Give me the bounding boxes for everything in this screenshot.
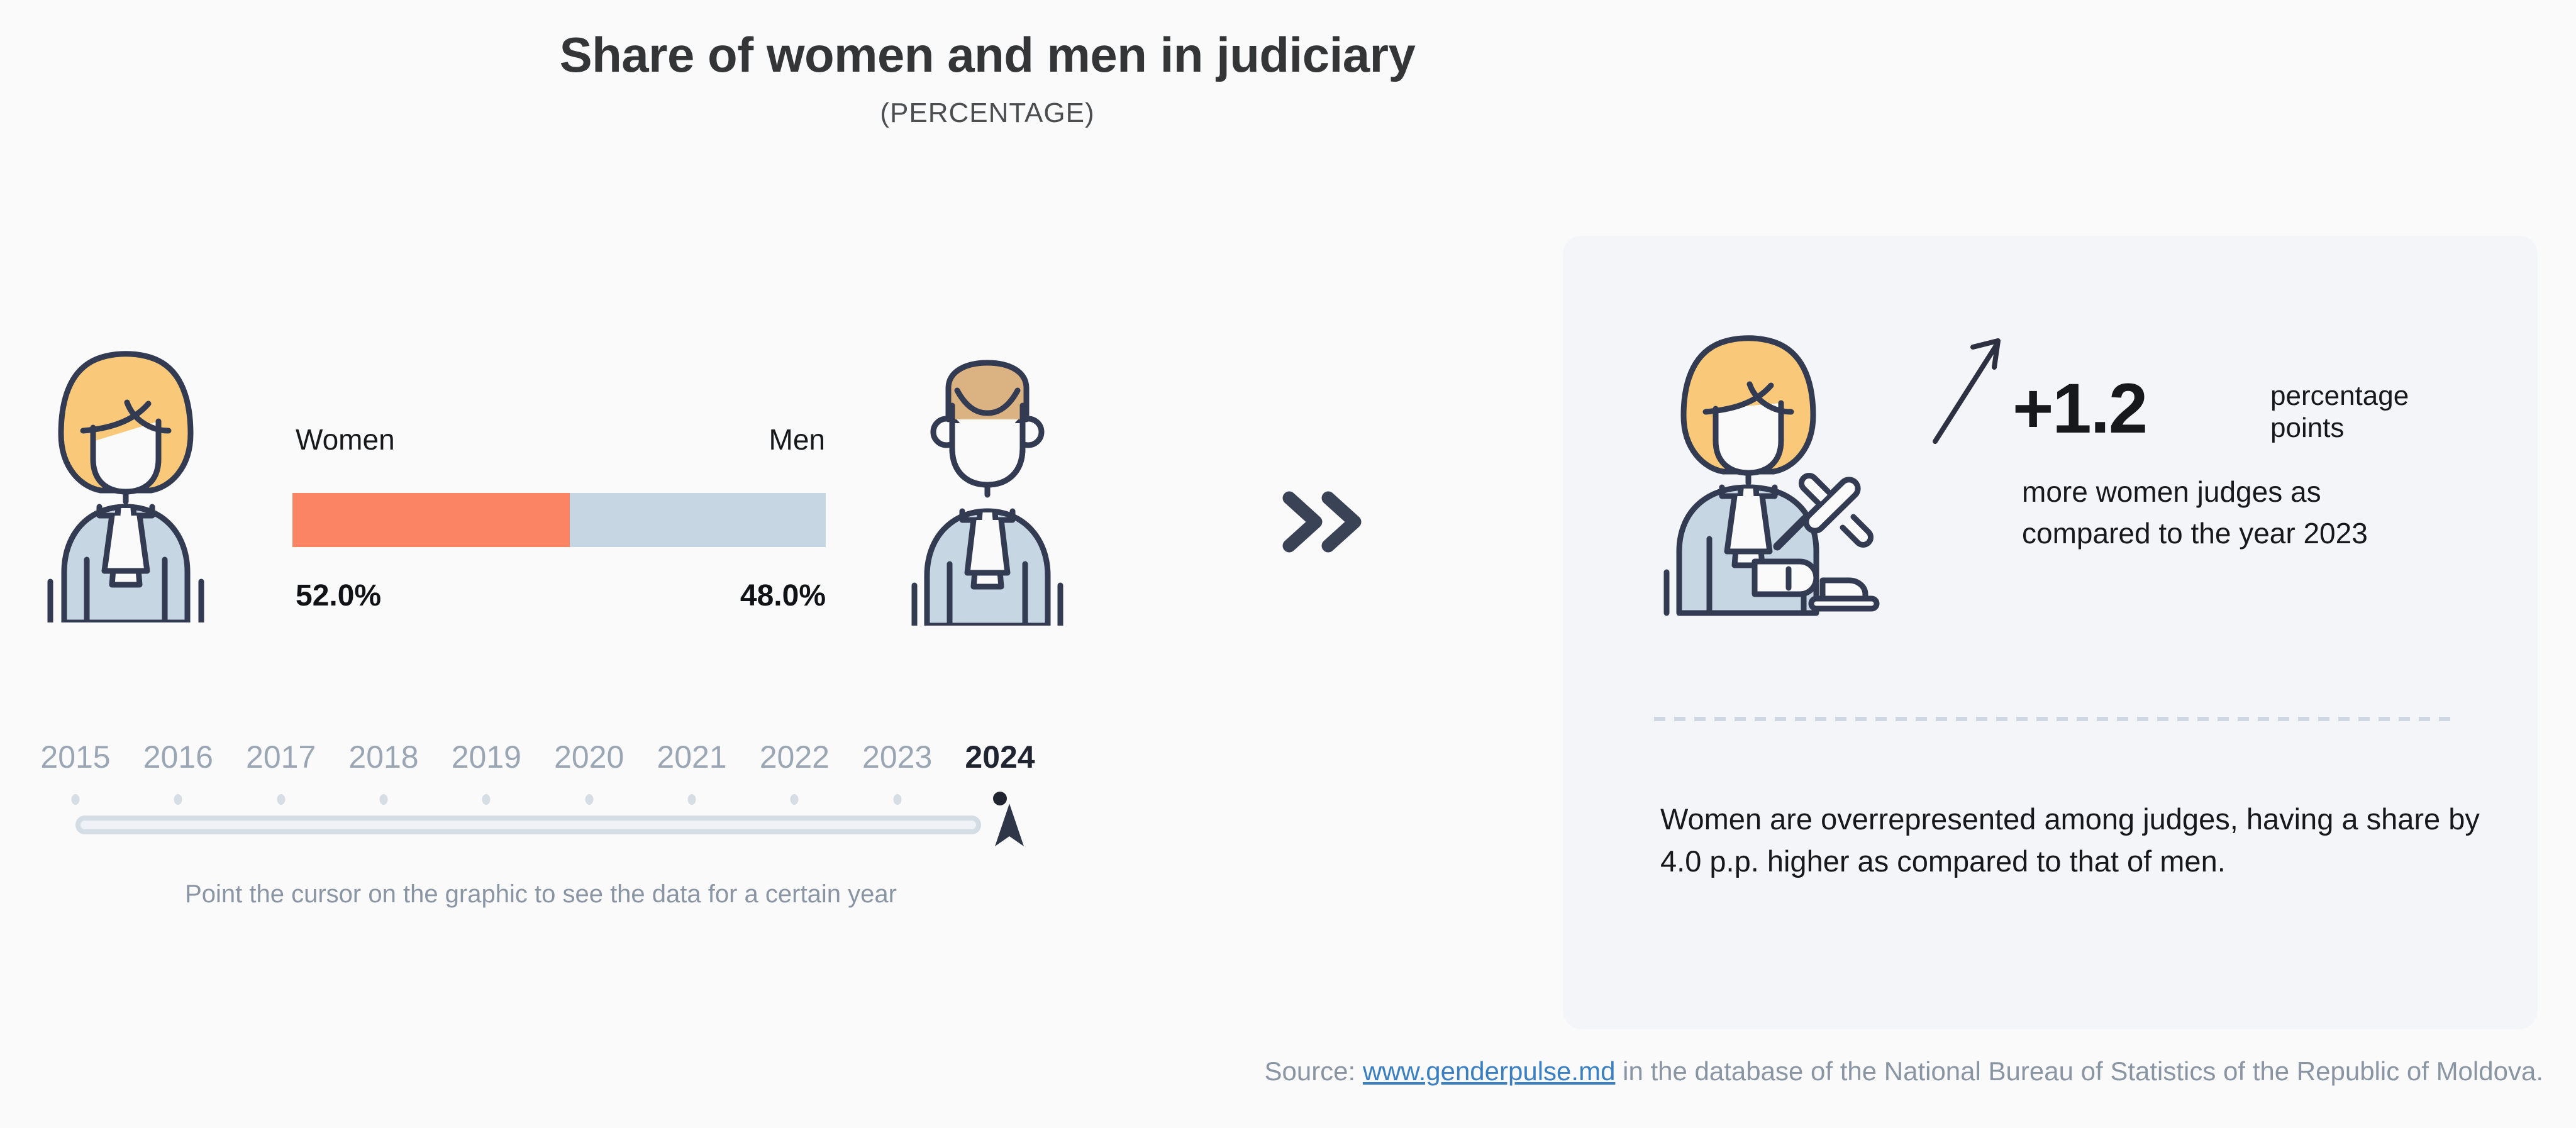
source-footer: Source: www.genderpulse.md in the databa… bbox=[0, 1056, 2576, 1087]
man-judge-icon bbox=[899, 349, 1075, 626]
delta-unit: percentage points bbox=[2270, 380, 2478, 444]
year-label-2019[interactable]: 2019 bbox=[452, 739, 521, 775]
timeline-hint: Point the cursor on the graphic to see t… bbox=[75, 880, 1006, 909]
bar-segment-women[interactable] bbox=[292, 493, 570, 547]
year-tick-2023[interactable] bbox=[893, 794, 901, 805]
year-tick-2020[interactable] bbox=[585, 794, 593, 805]
year-tick-row[interactable] bbox=[75, 789, 1000, 810]
timeline-track-inner bbox=[80, 821, 976, 829]
year-label-2022[interactable]: 2022 bbox=[760, 739, 830, 775]
timeline-track[interactable] bbox=[75, 816, 981, 834]
delta-unit-line2: points bbox=[2270, 412, 2478, 445]
cursor-pointer-icon bbox=[994, 800, 1025, 849]
year-tick-2021[interactable] bbox=[688, 794, 696, 805]
delta-value: +1.2 bbox=[2012, 368, 2146, 449]
year-tick-2016[interactable] bbox=[174, 794, 182, 805]
woman-judge-gavel-icon bbox=[1654, 318, 1943, 619]
year-tick-2018[interactable] bbox=[380, 794, 388, 805]
year-label-2018[interactable]: 2018 bbox=[348, 739, 418, 775]
infographic-page: Share of women and men in judiciary (PER… bbox=[0, 0, 2576, 1128]
year-tick-2019[interactable] bbox=[482, 794, 491, 805]
legend-men-label: Men bbox=[629, 423, 825, 456]
share-bar[interactable] bbox=[292, 493, 826, 547]
year-label-2020[interactable]: 2020 bbox=[554, 739, 624, 775]
year-label-2021[interactable]: 2021 bbox=[657, 739, 726, 775]
delta-unit-line1: percentage bbox=[2270, 380, 2478, 412]
year-tick-2015[interactable] bbox=[72, 794, 80, 805]
page-subtitle: (PERCENTAGE) bbox=[0, 97, 1975, 129]
highlight-summary: Women are overrepresented among judges, … bbox=[1660, 799, 2509, 882]
year-label-2017[interactable]: 2017 bbox=[246, 739, 316, 775]
double-chevron-right-icon bbox=[1277, 484, 1371, 560]
year-label-2015[interactable]: 2015 bbox=[40, 739, 110, 775]
year-label-2016[interactable]: 2016 bbox=[143, 739, 213, 775]
year-tick-2017[interactable] bbox=[277, 794, 285, 805]
source-prefix: Source: bbox=[1264, 1056, 1362, 1086]
value-women: 52.0% bbox=[296, 578, 381, 613]
year-timeline[interactable]: 2015201620172018201920202021202220232024 bbox=[75, 739, 1019, 865]
legend-women-label: Women bbox=[296, 423, 395, 456]
woman-judge-icon bbox=[31, 333, 220, 622]
delta-description: more women judges as compared to the yea… bbox=[2022, 472, 2424, 555]
source-link[interactable]: www.genderpulse.md bbox=[1363, 1056, 1616, 1086]
value-men: 48.0% bbox=[629, 578, 826, 613]
card-divider bbox=[1654, 717, 2453, 721]
year-label-2023[interactable]: 2023 bbox=[862, 739, 932, 775]
arrow-up-right-icon bbox=[1928, 333, 2009, 446]
bar-segment-men[interactable] bbox=[570, 493, 826, 547]
year-label-row: 2015201620172018201920202021202220232024 bbox=[75, 739, 1000, 778]
page-title: Share of women and men in judiciary bbox=[0, 26, 1975, 84]
year-tick-2022[interactable] bbox=[791, 794, 799, 805]
source-suffix: in the database of the National Bureau o… bbox=[1615, 1056, 2543, 1086]
year-label-2024[interactable]: 2024 bbox=[965, 739, 1035, 775]
